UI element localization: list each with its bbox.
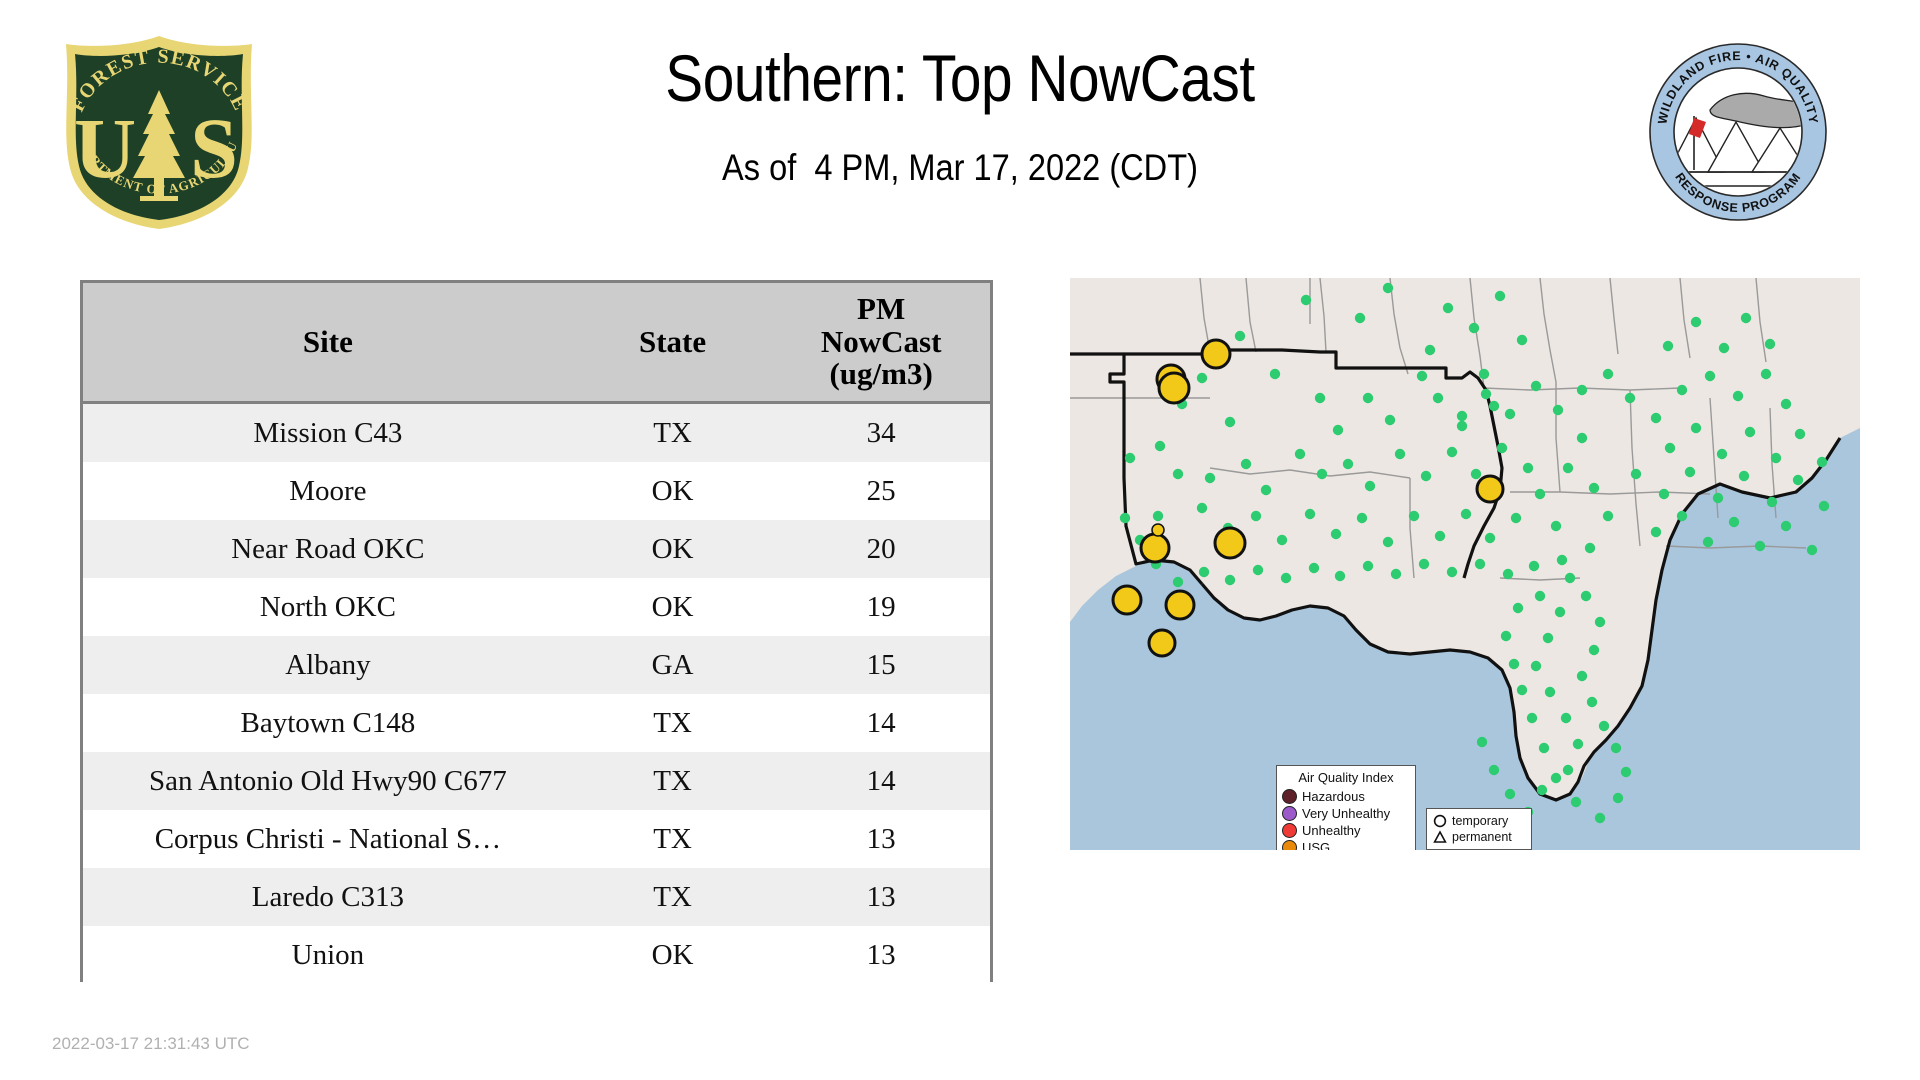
monitor-marker-good[interactable] — [1309, 563, 1319, 573]
monitor-marker-good[interactable] — [1571, 797, 1581, 807]
monitor-marker-good[interactable] — [1435, 531, 1445, 541]
aqi-swatch-icon — [1282, 823, 1297, 838]
legend-label-permanent: permanent — [1452, 831, 1512, 844]
monitor-marker-good[interactable] — [1485, 533, 1495, 543]
monitor-marker-good[interactable] — [1677, 385, 1687, 395]
wildland-fire-air-quality-response-program-logo: WILDLAND FIRE • AIR QUALITY RESPONSE PRO… — [1648, 42, 1828, 222]
site-cell: Mission C43 — [83, 403, 573, 463]
monitor-marker-good[interactable] — [1595, 813, 1605, 823]
monitor-marker-good[interactable] — [1551, 773, 1561, 783]
monitor-marker-good[interactable] — [1153, 511, 1163, 521]
monitor-marker-good[interactable] — [1355, 313, 1365, 323]
table-row[interactable]: Corpus Christi - National S…TX13 — [83, 810, 990, 868]
table-header-row: Site State PM NowCast (ug/m3) — [83, 283, 990, 403]
monitor-marker-good[interactable] — [1603, 369, 1613, 379]
table-row[interactable]: MooreOK25 — [83, 462, 990, 520]
monitor-marker-good[interactable] — [1625, 393, 1635, 403]
monitor-marker-good[interactable] — [1173, 577, 1183, 587]
state-cell: TX — [573, 868, 773, 926]
column-header-site: Site — [83, 283, 573, 403]
state-cell: GA — [573, 636, 773, 694]
monitor-marker-good[interactable] — [1531, 381, 1541, 391]
monitor-marker-good[interactable] — [1253, 565, 1263, 575]
state-cell: OK — [573, 926, 773, 984]
aqi-swatch-icon — [1282, 840, 1297, 850]
table-body: Mission C43TX34MooreOK25Near Road OKCOK2… — [83, 403, 990, 985]
site-cell: North OKC — [83, 578, 573, 636]
monitor-marker-good[interactable] — [1270, 369, 1280, 379]
monitor-marker-good[interactable] — [1553, 405, 1563, 415]
monitor-marker-good[interactable] — [1529, 561, 1539, 571]
monitor-marker-good[interactable] — [1621, 767, 1631, 777]
monitor-marker-good[interactable] — [1511, 513, 1521, 523]
map-canvas[interactable] — [1070, 278, 1860, 850]
monitor-marker-good[interactable] — [1385, 415, 1395, 425]
aqi-swatch-icon — [1282, 789, 1297, 804]
monitor-marker-good[interactable] — [1677, 511, 1687, 521]
pm-nowcast-cell: 13 — [772, 810, 990, 868]
monitor-marker-good[interactable] — [1523, 463, 1533, 473]
monitor-marker-good[interactable] — [1535, 489, 1545, 499]
monitor-marker-good[interactable] — [1781, 521, 1791, 531]
state-cell: OK — [573, 578, 773, 636]
air-quality-index-legend: Air Quality Index HazardousVery Unhealth… — [1276, 765, 1416, 850]
us-forest-service-shield-logo: FOREST SERVICE DEPARTMENT OF AGRICULTURE… — [52, 32, 267, 232]
table-row[interactable]: Baytown C148TX14 — [83, 694, 990, 752]
monitor-marker-moderate[interactable] — [1152, 524, 1164, 536]
monitor-marker-good[interactable] — [1469, 323, 1479, 333]
monitor-marker-good[interactable] — [1739, 471, 1749, 481]
monitor-marker-good[interactable] — [1357, 513, 1367, 523]
monitor-marker-good[interactable] — [1295, 449, 1305, 459]
monitor-marker-good[interactable] — [1225, 575, 1235, 585]
monitor-marker-moderate[interactable] — [1477, 476, 1503, 502]
monitor-marker-good[interactable] — [1717, 449, 1727, 459]
table-row[interactable]: Mission C43TX34 — [83, 403, 990, 463]
site-cell: Union — [83, 926, 573, 984]
monitor-marker-good[interactable] — [1513, 603, 1523, 613]
monitor-marker-good[interactable] — [1391, 569, 1401, 579]
pm-nowcast-cell: 19 — [772, 578, 990, 636]
monitor-marker-good[interactable] — [1475, 559, 1485, 569]
monitor-marker-good[interactable] — [1603, 511, 1613, 521]
monitor-marker-good[interactable] — [1765, 339, 1775, 349]
monitor-marker-good[interactable] — [1761, 369, 1771, 379]
monitor-marker-good[interactable] — [1527, 713, 1537, 723]
pm-nowcast-cell: 34 — [772, 403, 990, 463]
monitor-marker-good[interactable] — [1551, 521, 1561, 531]
monitor-marker-good[interactable] — [1691, 423, 1701, 433]
table-row[interactable]: San Antonio Old Hwy90 C677TX14 — [83, 752, 990, 810]
monitor-marker-good[interactable] — [1659, 489, 1669, 499]
monitor-marker-good[interactable] — [1173, 469, 1183, 479]
monitor-marker-good[interactable] — [1277, 535, 1287, 545]
pm-nowcast-cell: 20 — [772, 520, 990, 578]
monitor-marker-good[interactable] — [1457, 411, 1467, 421]
shield-letter-u: U — [74, 100, 136, 196]
monitor-marker-good[interactable] — [1577, 433, 1587, 443]
monitor-marker-good[interactable] — [1589, 483, 1599, 493]
monitor-marker-good[interactable] — [1685, 467, 1695, 477]
monitor-marker-good[interactable] — [1363, 561, 1373, 571]
monitor-marker-good[interactable] — [1383, 537, 1393, 547]
monitor-marker-good[interactable] — [1509, 659, 1519, 669]
permanent-triangle-icon — [1433, 830, 1447, 844]
monitor-marker-good[interactable] — [1409, 511, 1419, 521]
monitor-marker-good[interactable] — [1419, 559, 1429, 569]
monitor-marker-moderate[interactable] — [1159, 373, 1189, 403]
monitor-marker-good[interactable] — [1555, 607, 1565, 617]
monitor-marker-good[interactable] — [1535, 591, 1545, 601]
monitor-marker-good[interactable] — [1531, 661, 1541, 671]
page-header: FOREST SERVICE DEPARTMENT OF AGRICULTURE… — [0, 0, 1920, 235]
monitor-marker-good[interactable] — [1793, 475, 1803, 485]
monitor-marker-good[interactable] — [1543, 633, 1553, 643]
monitor-marker-good[interactable] — [1781, 399, 1791, 409]
monitor-marker-good[interactable] — [1595, 617, 1605, 627]
monitor-marker-good[interactable] — [1755, 541, 1765, 551]
pm-nowcast-cell: 14 — [772, 694, 990, 752]
pm-nowcast-cell: 14 — [772, 752, 990, 810]
pm-nowcast-cell: 13 — [772, 926, 990, 984]
monitor-marker-good[interactable] — [1497, 443, 1507, 453]
monitor-marker-good[interactable] — [1537, 785, 1547, 795]
monitor-marker-good[interactable] — [1545, 687, 1555, 697]
table-row[interactable]: Laredo C313TX13 — [83, 868, 990, 926]
monitor-marker-good[interactable] — [1461, 509, 1471, 519]
monitor-marker-moderate[interactable] — [1141, 534, 1169, 562]
monitor-marker-good[interactable] — [1713, 493, 1723, 503]
page-title: Southern: Top NowCast — [418, 45, 1502, 111]
monitor-marker-good[interactable] — [1577, 671, 1587, 681]
monitor-marker-good[interactable] — [1703, 537, 1713, 547]
monitor-marker-good[interactable] — [1505, 409, 1515, 419]
aqi-legend-label: Unhealthy — [1302, 824, 1361, 837]
monitor-marker-good[interactable] — [1631, 469, 1641, 479]
column-header-state: State — [573, 283, 773, 403]
monitor-marker-good[interactable] — [1517, 335, 1527, 345]
monitor-marker-good[interactable] — [1421, 471, 1431, 481]
monitor-marker-good[interactable] — [1665, 443, 1675, 453]
monitor-marker-good[interactable] — [1561, 713, 1571, 723]
monitor-marker-good[interactable] — [1807, 545, 1817, 555]
state-cell: TX — [573, 403, 773, 463]
monitor-marker-good[interactable] — [1489, 401, 1499, 411]
monitor-marker-good[interactable] — [1305, 509, 1315, 519]
monitor-marker-good[interactable] — [1563, 765, 1573, 775]
table-row[interactable]: UnionOK13 — [83, 926, 990, 984]
monitor-marker-good[interactable] — [1457, 421, 1467, 431]
monitor-marker-moderate[interactable] — [1215, 528, 1245, 558]
state-cell: TX — [573, 694, 773, 752]
monitor-marker-good[interactable] — [1235, 331, 1245, 341]
aqi-legend-label: Hazardous — [1302, 790, 1365, 803]
monitor-marker-good[interactable] — [1261, 485, 1271, 495]
monitor-marker-good[interactable] — [1120, 513, 1130, 523]
state-cell: TX — [573, 810, 773, 868]
site-cell: Laredo C313 — [83, 868, 573, 926]
state-cell: OK — [573, 520, 773, 578]
temporary-circle-icon — [1433, 814, 1447, 828]
monitor-marker-good[interactable] — [1651, 527, 1661, 537]
monitor-marker-good[interactable] — [1447, 567, 1457, 577]
monitor-marker-good[interactable] — [1589, 645, 1599, 655]
monitor-marker-good[interactable] — [1331, 529, 1341, 539]
monitor-marker-good[interactable] — [1315, 393, 1325, 403]
monitor-marker-good[interactable] — [1489, 765, 1499, 775]
monitor-marker-good[interactable] — [1395, 449, 1405, 459]
monitor-marker-good[interactable] — [1557, 555, 1567, 565]
site-cell: Corpus Christi - National S… — [83, 810, 573, 868]
monitor-marker-good[interactable] — [1745, 427, 1755, 437]
aqi-legend-title: Air Quality Index — [1282, 770, 1410, 785]
monitor-marker-good[interactable] — [1199, 567, 1209, 577]
monitor-marker-good[interactable] — [1425, 345, 1435, 355]
top-nowcast-table: Site State PM NowCast (ug/m3) Mission C4… — [83, 283, 990, 984]
monitor-marker-good[interactable] — [1577, 385, 1587, 395]
site-cell: Albany — [83, 636, 573, 694]
monitor-marker-good[interactable] — [1611, 743, 1621, 753]
monitor-marker-good[interactable] — [1795, 429, 1805, 439]
monitor-marker-good[interactable] — [1197, 373, 1207, 383]
state-cell: OK — [573, 462, 773, 520]
monitor-marker-good[interactable] — [1663, 341, 1673, 351]
monitor-marker-good[interactable] — [1613, 793, 1623, 803]
monitor-marker-good[interactable] — [1205, 473, 1215, 483]
legend-row-permanent: permanent — [1433, 829, 1525, 845]
monitor-marker-good[interactable] — [1479, 369, 1489, 379]
pm-nowcast-cell: 13 — [772, 868, 990, 926]
air-quality-monitor-map[interactable]: Air Quality Index HazardousVery Unhealth… — [1070, 278, 1860, 850]
monitor-marker-good[interactable] — [1383, 283, 1393, 293]
monitor-marker-good[interactable] — [1125, 453, 1135, 463]
monitor-marker-good[interactable] — [1365, 481, 1375, 491]
pm-nowcast-cell: 25 — [772, 462, 990, 520]
aqi-legend-label: Very Unhealthy — [1302, 807, 1390, 820]
monitor-marker-good[interactable] — [1733, 391, 1743, 401]
monitor-marker-good[interactable] — [1447, 447, 1457, 457]
monitor-marker-good[interactable] — [1587, 697, 1597, 707]
monitor-marker-good[interactable] — [1443, 303, 1453, 313]
monitor-marker-good[interactable] — [1481, 389, 1491, 399]
state-cell: TX — [573, 752, 773, 810]
monitor-marker-moderate[interactable] — [1149, 630, 1175, 656]
site-cell: Near Road OKC — [83, 520, 573, 578]
column-header-pm-nowcast: PM NowCast (ug/m3) — [772, 283, 990, 403]
monitor-marker-good[interactable] — [1729, 517, 1739, 527]
monitor-marker-good[interactable] — [1495, 291, 1505, 301]
legend-label-temporary: temporary — [1452, 815, 1508, 828]
monitor-marker-good[interactable] — [1477, 737, 1487, 747]
monitor-marker-good[interactable] — [1301, 295, 1311, 305]
monitor-marker-good[interactable] — [1585, 543, 1595, 553]
monitor-marker-good[interactable] — [1539, 743, 1549, 753]
monitor-marker-good[interactable] — [1417, 371, 1427, 381]
site-cell: Baytown C148 — [83, 694, 573, 752]
table-row[interactable]: AlbanyGA15 — [83, 636, 990, 694]
aqi-legend-row: Hazardous — [1282, 788, 1410, 805]
monitor-marker-good[interactable] — [1363, 393, 1373, 403]
top-nowcast-table-panel: Site State PM NowCast (ug/m3) Mission C4… — [80, 280, 993, 982]
monitor-marker-good[interactable] — [1471, 469, 1481, 479]
monitor-marker-good[interactable] — [1705, 371, 1715, 381]
aqi-legend-row: USG — [1282, 839, 1410, 850]
monitor-marker-good[interactable] — [1691, 317, 1701, 327]
monitor-marker-good[interactable] — [1505, 789, 1515, 799]
monitor-marker-good[interactable] — [1741, 313, 1751, 323]
monitor-marker-good[interactable] — [1155, 441, 1165, 451]
monitor-marker-moderate[interactable] — [1166, 591, 1194, 619]
monitor-marker-good[interactable] — [1771, 453, 1781, 463]
generation-timestamp: 2022-03-17 21:31:43 UTC — [52, 1034, 250, 1054]
page-subtitle: As of 4 PM, Mar 17, 2022 (CDT) — [406, 147, 1515, 189]
monitor-marker-good[interactable] — [1719, 343, 1729, 353]
title-block: Southern: Top NowCast As of 4 PM, Mar 17… — [330, 45, 1590, 189]
monitor-marker-good[interactable] — [1333, 425, 1343, 435]
monitor-marker-good[interactable] — [1281, 573, 1291, 583]
monitor-marker-good[interactable] — [1767, 497, 1777, 507]
aqi-legend-rows: HazardousVery UnhealthyUnhealthyUSGModer… — [1282, 788, 1410, 850]
monitor-marker-good[interactable] — [1197, 503, 1207, 513]
monitor-marker-good[interactable] — [1335, 571, 1345, 581]
monitor-marker-good[interactable] — [1565, 573, 1575, 583]
monitor-marker-good[interactable] — [1343, 459, 1353, 469]
monitor-marker-good[interactable] — [1819, 501, 1829, 511]
legend-row-temporary: temporary — [1433, 813, 1525, 829]
aqi-legend-row: Very Unhealthy — [1282, 805, 1410, 822]
monitor-marker-good[interactable] — [1599, 721, 1609, 731]
monitor-marker-good[interactable] — [1433, 393, 1443, 403]
monitor-marker-good[interactable] — [1241, 459, 1251, 469]
monitor-marker-good[interactable] — [1581, 591, 1591, 601]
monitor-marker-good[interactable] — [1503, 569, 1513, 579]
monitor-marker-good[interactable] — [1517, 685, 1527, 695]
monitor-marker-good[interactable] — [1651, 413, 1661, 423]
table-row[interactable]: Near Road OKCOK20 — [83, 520, 990, 578]
monitor-marker-good[interactable] — [1501, 631, 1511, 641]
shield-letter-s: S — [190, 100, 238, 196]
aqi-legend-label: USG — [1302, 841, 1330, 850]
monitor-marker-good[interactable] — [1573, 739, 1583, 749]
monitor-marker-good[interactable] — [1817, 457, 1827, 467]
aqi-legend-row: Unhealthy — [1282, 822, 1410, 839]
monitor-type-legend: temporary permanent — [1426, 808, 1532, 850]
monitor-marker-good[interactable] — [1563, 463, 1573, 473]
monitor-marker-good[interactable] — [1225, 417, 1235, 427]
monitor-marker-moderate[interactable] — [1202, 340, 1230, 368]
aqi-swatch-icon — [1282, 806, 1297, 821]
table-row[interactable]: North OKCOK19 — [83, 578, 990, 636]
site-cell: San Antonio Old Hwy90 C677 — [83, 752, 573, 810]
monitor-marker-moderate[interactable] — [1113, 586, 1141, 614]
pm-nowcast-cell: 15 — [772, 636, 990, 694]
monitor-marker-good[interactable] — [1317, 469, 1327, 479]
site-cell: Moore — [83, 462, 573, 520]
monitor-marker-good[interactable] — [1251, 511, 1261, 521]
